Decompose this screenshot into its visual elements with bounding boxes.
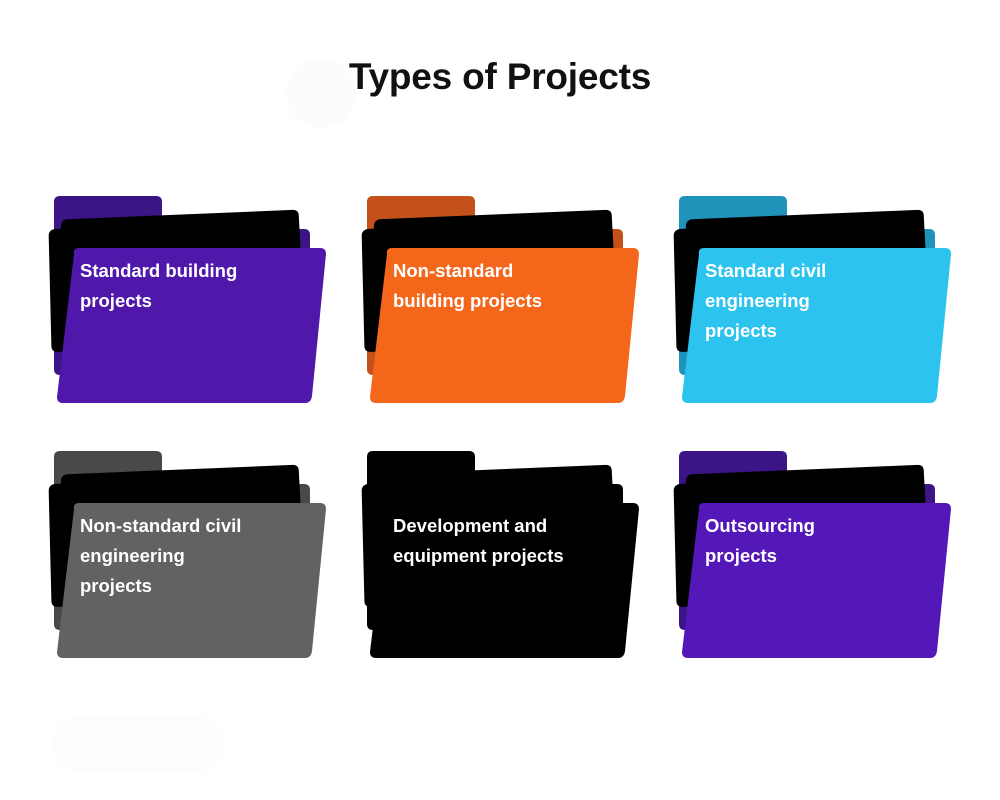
folder-label-development-and-equipment-projects: Development and equipment projects — [393, 511, 625, 571]
slide-canvas: Types of Projects Standard building proj… — [0, 0, 1000, 800]
folder-card-standard-building-projects[interactable]: Standard building projects — [48, 193, 358, 423]
folder-card-non-standard-building-projects[interactable]: Non-standard building projects — [361, 193, 671, 423]
folder-label-standard-building-projects: Standard building projects — [80, 256, 312, 316]
folder-card-development-and-equipment-projects[interactable]: Development and equipment projects — [361, 448, 671, 678]
folder-label-non-standard-building-projects: Non-standard building projects — [393, 256, 625, 316]
folder-card-non-standard-civil-engineering-projects[interactable]: Non-standard civil engineering projects — [48, 448, 358, 678]
folder-card-standard-civil-engineering-projects[interactable]: Standard civil engineering projects — [673, 193, 983, 423]
folder-label-standard-civil-engineering-projects: Standard civil engineering projects — [705, 256, 937, 346]
folder-grid: Standard building projectsNon-standard b… — [0, 0, 1000, 800]
folder-label-outsourcing-projects: Outsourcing projects — [705, 511, 937, 571]
folder-card-outsourcing-projects[interactable]: Outsourcing projects — [673, 448, 983, 678]
folder-label-non-standard-civil-engineering-projects: Non-standard civil engineering projects — [80, 511, 312, 601]
